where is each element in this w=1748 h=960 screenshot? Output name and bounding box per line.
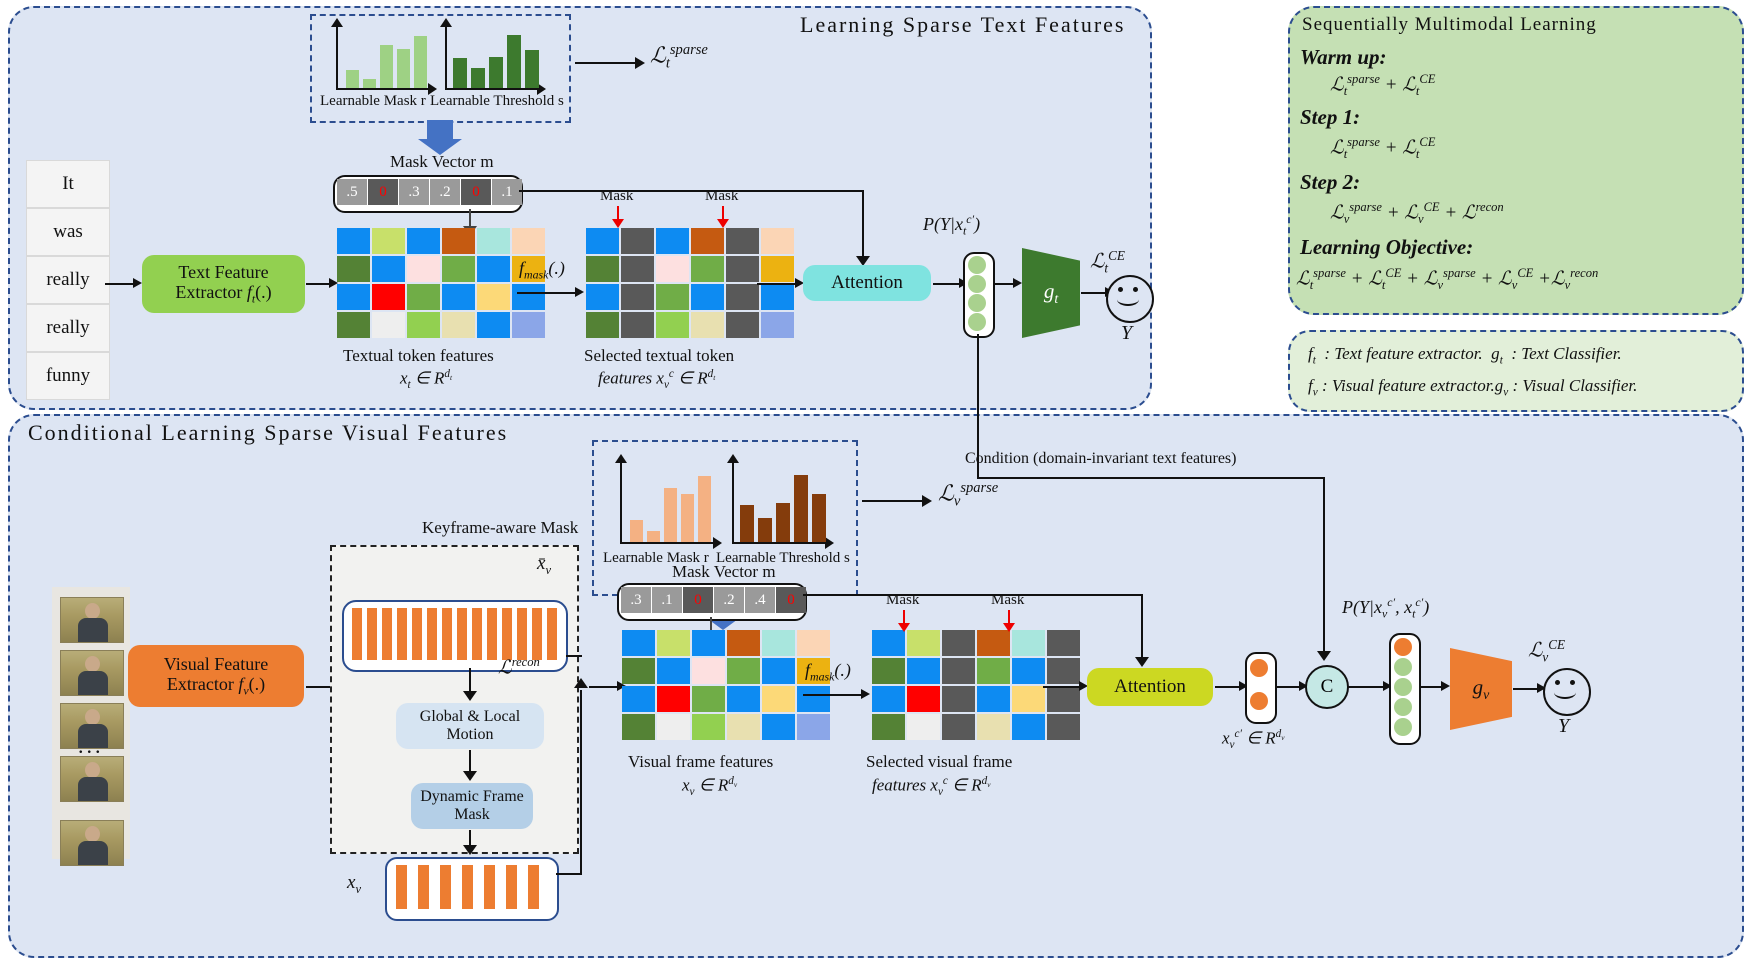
feature-cell <box>512 228 545 254</box>
text-token: really <box>26 304 110 352</box>
feature-cell <box>1012 686 1045 712</box>
framemask-to-xv-arrowhead <box>463 845 477 855</box>
keyframe-bar <box>532 608 542 660</box>
visual-maskvec-to-attention-v <box>1141 594 1143 658</box>
feature-cell <box>586 312 619 338</box>
feature-cell <box>726 312 759 338</box>
classifier-to-output-arrow <box>1081 292 1107 294</box>
xv-label: xv <box>347 872 361 897</box>
feature-cell <box>657 686 690 712</box>
text-ce-loss-label: ℒtCE <box>1090 248 1125 277</box>
feature-cell <box>622 658 655 684</box>
feature-cell <box>907 714 940 740</box>
feature-cell <box>442 312 475 338</box>
legend-panel <box>1288 330 1744 412</box>
keyframe-bar <box>352 608 362 660</box>
feature-cell <box>656 256 689 282</box>
feature-cell <box>907 630 940 656</box>
visual-fmask-arrowhead <box>861 689 870 699</box>
feature-cell <box>727 714 760 740</box>
feature-cell <box>1012 630 1045 656</box>
visual-feature-extractor-label: Visual FeatureExtractor fv(.) <box>164 654 268 699</box>
maskvec-to-attention-v <box>862 190 864 257</box>
recon-loss-vline <box>580 690 582 875</box>
feature-cell <box>942 686 975 712</box>
feature-cell <box>372 228 405 254</box>
visualprob-to-classifier-arrowhead <box>1441 681 1450 691</box>
text-learnable-threshold-chart <box>435 22 545 94</box>
keyframe-bar <box>442 608 452 660</box>
visual-smiley-eye-left <box>1555 680 1560 685</box>
mask-vector-cell: .3 <box>399 179 429 205</box>
feature-cell <box>372 284 405 310</box>
selected-keyframe-bar <box>506 865 517 909</box>
dynamic-frame-mask-label: Dynamic Frame Mask <box>411 788 533 824</box>
visual-grid-caption2: xv ∈ Rdv <box>682 775 737 798</box>
text-sparse-loss-label: ℒtsparse <box>650 42 708 73</box>
text-neuron <box>968 313 986 331</box>
video-frames-ellipsis: ... <box>78 733 104 759</box>
feature-cell <box>407 284 440 310</box>
global-local-motion-label: Global & Local Motion <box>396 708 544 744</box>
feature-cell <box>872 630 905 656</box>
visual-sparse-loss-arrowhead <box>922 495 932 507</box>
global-local-motion-block[interactable]: Global & Local Motion <box>396 703 544 749</box>
feature-cell <box>872 714 905 740</box>
mask-vector-cell: 0 <box>368 179 398 205</box>
attention-to-prob-arrow <box>933 283 961 285</box>
visual-smiley-mouth <box>1554 686 1576 699</box>
feature-cell <box>407 228 440 254</box>
legend-line-2: fv : Visual feature extractor.gv : Visua… <box>1308 376 1637 398</box>
feature-cell <box>942 630 975 656</box>
feature-cell <box>872 658 905 684</box>
legend-line-1: ft : Text feature extractor. gt : Text C… <box>1308 344 1622 366</box>
prob-to-classifier-arrow <box>993 283 1015 285</box>
xbar-to-motion-arrowhead <box>463 691 477 701</box>
visual-pooled-neuron <box>1250 692 1268 710</box>
text-attention-block[interactable]: Attention <box>803 265 931 301</box>
condition-arrowhead <box>1317 651 1331 661</box>
visual-attention-label: Attention <box>1114 676 1186 698</box>
mask-vector-cell: 0 <box>776 587 806 613</box>
text-mask-down-arrow <box>427 120 453 140</box>
keyframe-bar <box>412 608 422 660</box>
feature-cell <box>691 284 724 310</box>
objective-heading-0: Warm up: <box>1300 45 1387 70</box>
feature-cell <box>442 256 475 282</box>
feature-cell <box>977 714 1010 740</box>
smiley-eye-right <box>1133 287 1138 292</box>
feature-cell <box>372 256 405 282</box>
textual-grid-caption2: xt ∈ Rdt <box>400 368 452 391</box>
video-frame <box>60 597 124 643</box>
visual-prob-neuron <box>1394 638 1412 656</box>
concat-node: C <box>1305 665 1349 709</box>
recon-loss-hline-top <box>566 655 582 657</box>
condition-label: Condition (domain-invariant text feature… <box>965 450 1236 468</box>
selected-keyframe-bar <box>484 865 495 909</box>
video-frame <box>60 650 124 696</box>
feature-cell <box>407 312 440 338</box>
keyframe-bar <box>487 608 497 660</box>
visual-mask-arrow-1 <box>903 610 905 624</box>
text-neuron <box>968 256 986 274</box>
visual-pooled-neuron <box>1250 659 1268 677</box>
feature-cell <box>726 228 759 254</box>
xbar-to-motion-arrow <box>469 668 471 692</box>
feature-cell <box>691 228 724 254</box>
feature-cell <box>761 312 794 338</box>
feature-cell <box>726 284 759 310</box>
text-branch-title: Learning Sparse Text Features <box>800 12 1125 38</box>
text-mask-arrow-1 <box>617 206 619 220</box>
keyframe-bar <box>397 608 407 660</box>
feature-cell <box>337 312 370 338</box>
text-sparse-loss-arrow <box>575 62 637 64</box>
feature-cell <box>621 312 654 338</box>
visual-smiley-eye-right <box>1570 680 1575 685</box>
feature-cell <box>1047 630 1080 656</box>
keyframe-bar <box>472 608 482 660</box>
feature-cell <box>872 686 905 712</box>
visual-classifier-label: gv <box>1473 675 1490 703</box>
framemask-to-xv-arrow <box>469 830 471 846</box>
selected-keyframe-bar <box>440 865 451 909</box>
objective-formula-2: ℒvsparse + ℒvCE + ℒrecon <box>1330 200 1504 227</box>
feature-cell <box>1047 714 1080 740</box>
feature-cell <box>656 228 689 254</box>
feature-cell <box>407 256 440 282</box>
feature-cell <box>692 658 725 684</box>
visual-branch-title: Conditional Learning Sparse Visual Featu… <box>28 420 508 446</box>
text-mask-arrow-2 <box>722 206 724 220</box>
visual-attention-block[interactable]: Attention <box>1087 668 1213 706</box>
feature-cell <box>337 228 370 254</box>
visual-sparse-loss-arrow <box>862 500 924 502</box>
selected-keyframe-bar <box>418 865 429 909</box>
visual-prob-neuron <box>1394 678 1412 696</box>
selvisgrid-to-attention-arrow <box>1043 686 1081 688</box>
feature-cell <box>657 714 690 740</box>
text-fmask-label: fmask(.) <box>519 258 565 283</box>
maskvec-to-attention-h <box>519 190 864 192</box>
visual-fmask-arrow <box>803 694 863 696</box>
keyframe-bar <box>517 608 527 660</box>
feature-cell <box>727 658 760 684</box>
token-to-extractor-arrow <box>105 283 135 285</box>
visual-prob-neuron <box>1394 698 1412 716</box>
objective-panel-title: Sequentially Multimodal Learning <box>1302 14 1597 36</box>
video-frame <box>60 756 124 802</box>
concat-label: C <box>1321 676 1334 698</box>
visual-prob-neuron <box>1394 718 1412 736</box>
condition-vline-from-top <box>977 334 979 478</box>
text-attention-label: Attention <box>831 272 903 294</box>
selected-keyframe-bar <box>396 865 407 909</box>
keyframe-bar <box>457 608 467 660</box>
dynamic-frame-mask-block[interactable]: Dynamic Frame Mask <box>411 783 533 829</box>
visual-maskvec-to-attention-h <box>803 594 1143 596</box>
selected-keyframe-bar <box>462 865 473 909</box>
text-classifier-label: gt <box>1044 279 1058 307</box>
feature-cell <box>586 284 619 310</box>
text-learnable-threshold-label: Learnable Threshold s <box>430 93 564 110</box>
visual-maskvec-to-attention-arrowhead <box>1135 657 1149 667</box>
maskvec-to-grid-line <box>469 209 471 227</box>
feature-cell <box>691 256 724 282</box>
feature-cell <box>656 312 689 338</box>
smiley-eye-left <box>1118 287 1123 292</box>
text-output-label: Y <box>1121 322 1132 345</box>
feature-cell <box>477 284 510 310</box>
feature-cell <box>762 658 795 684</box>
feature-cell <box>337 284 370 310</box>
feature-cell <box>727 686 760 712</box>
feature-cell <box>622 630 655 656</box>
feature-cell <box>586 256 619 282</box>
mask-vector-cell: .2 <box>430 179 460 205</box>
feature-cell <box>797 630 830 656</box>
feature-cell <box>621 228 654 254</box>
visual-learnable-mask-chart <box>610 458 722 550</box>
mask-vector-cell: 0 <box>461 179 491 205</box>
visual-fmask-label: fmask(.) <box>805 660 851 685</box>
xbar-label: x̄v <box>537 553 551 578</box>
feature-cell <box>1012 714 1045 740</box>
feature-cell <box>586 228 619 254</box>
feature-cell <box>762 714 795 740</box>
text-token: really <box>26 256 110 304</box>
keyframe-mask-title: Keyframe-aware Mask <box>422 518 578 538</box>
objective-heading-2: Step 2: <box>1300 170 1360 195</box>
objective-heading-1: Step 1: <box>1300 105 1360 130</box>
feature-cell <box>442 228 475 254</box>
text-token: funny <box>26 352 110 400</box>
xv-to-visualgrid-arrow <box>589 686 619 688</box>
keyframe-bar <box>427 608 437 660</box>
feature-cell <box>797 714 830 740</box>
feature-cell <box>1012 658 1045 684</box>
feature-cell <box>692 630 725 656</box>
feature-cell <box>1047 686 1080 712</box>
visual-learnable-threshold-chart <box>722 458 834 550</box>
smiley-mouth <box>1117 293 1139 306</box>
feature-cell <box>657 630 690 656</box>
text-neuron <box>968 275 986 293</box>
feature-cell <box>977 630 1010 656</box>
mask-vector-cell: .3 <box>621 587 651 613</box>
objective-formula-3: ℒtsparse + ℒtCE + ℒvsparse + ℒvCE +ℒvrec… <box>1296 266 1598 293</box>
text-mask-vector-label: Mask Vector m <box>390 152 494 172</box>
visual-mask-vector-label: Mask Vector m <box>672 562 776 582</box>
feature-cell <box>692 714 725 740</box>
visual-output-label: Y <box>1558 715 1569 738</box>
extractor-to-grid-arrow <box>306 283 331 285</box>
feature-cell <box>477 256 510 282</box>
visual-prob-label: P(Y|xvc′, xtc′) <box>1342 595 1429 622</box>
feature-cell <box>372 312 405 338</box>
condition-hline <box>977 477 1325 479</box>
feature-cell <box>907 686 940 712</box>
feature-cell <box>727 630 760 656</box>
concat-to-prob-arrow <box>1347 686 1385 688</box>
selected-textual-caption2: features xvc ∈ Rdt <box>598 368 715 391</box>
visual-classifier[interactable]: gv <box>1450 648 1512 730</box>
mask-vector-cell: .1 <box>492 179 522 205</box>
selected-keyframe-bar <box>528 865 539 909</box>
feature-cell <box>942 714 975 740</box>
feature-cell <box>942 658 975 684</box>
feature-cell <box>622 686 655 712</box>
selected-visual-caption: Selected visual frame <box>866 752 1012 772</box>
visual-sparse-loss-label: ℒvsparse <box>938 480 998 511</box>
mask-vector-cell: 0 <box>683 587 713 613</box>
feature-cell <box>477 312 510 338</box>
mask-vector-cell: .1 <box>652 587 682 613</box>
visual-feature-extractor[interactable]: Visual FeatureExtractor fv(.) <box>128 645 304 707</box>
text-token: was <box>26 208 110 256</box>
feature-cell <box>337 256 370 282</box>
pooled-to-concat-arrow <box>1275 686 1301 688</box>
visualprob-to-classifier-arrow <box>1419 686 1443 688</box>
mask-vector-cell: .5 <box>337 179 367 205</box>
text-branch-panel <box>8 6 1152 410</box>
text-neuron <box>968 294 986 312</box>
feature-cell <box>691 312 724 338</box>
feature-cell <box>442 284 475 310</box>
text-feature-extractor-label: Text FeatureExtractor ft(.) <box>175 262 271 307</box>
text-fmask-arrow <box>517 292 577 294</box>
condition-vline-down <box>1323 477 1325 652</box>
mask-vector-cell: .2 <box>714 587 744 613</box>
feature-cell <box>512 284 545 310</box>
feature-cell <box>762 686 795 712</box>
feature-cell <box>621 284 654 310</box>
feature-cell <box>621 256 654 282</box>
video-frame <box>60 820 124 866</box>
selgrid-to-attention-arrow <box>757 283 797 285</box>
keyframe-bar <box>367 608 377 660</box>
feature-cell <box>797 686 830 712</box>
feature-cell <box>761 228 794 254</box>
token-to-extractor-arrowhead <box>133 278 142 288</box>
feature-cell <box>761 284 794 310</box>
keyframe-bar <box>382 608 392 660</box>
textual-grid-caption: Textual token features <box>343 346 494 366</box>
keyframe-bar <box>547 608 557 660</box>
visual-mask-arrowhead-2 <box>1003 623 1015 632</box>
visual-mask-arrow-2 <box>1008 610 1010 624</box>
prob-to-classifier-arrowhead <box>1013 278 1022 288</box>
feature-cell <box>692 686 725 712</box>
recon-loss-arrowhead <box>574 678 588 688</box>
feature-cell <box>907 658 940 684</box>
feature-cell <box>977 658 1010 684</box>
feature-cell <box>726 256 759 282</box>
text-sparse-loss-arrowhead <box>635 57 645 69</box>
text-mask-arrowhead-1 <box>612 219 624 228</box>
feature-cell <box>477 228 510 254</box>
selected-textual-caption: Selected textual token <box>584 346 734 366</box>
visualclassifier-to-output-arrow <box>1513 688 1539 690</box>
visual-pooled-label: xvc′ ∈ Rdv <box>1222 728 1285 751</box>
feature-cell <box>656 284 689 310</box>
feature-cell <box>1047 658 1080 684</box>
text-token: It <box>26 160 110 208</box>
feature-cell <box>761 256 794 282</box>
objective-formula-1: ℒtsparse + ℒtCE <box>1330 135 1435 162</box>
visual-prob-neuron <box>1394 658 1412 676</box>
text-learnable-mask-label: Learnable Mask r <box>320 93 426 110</box>
objective-heading-3: Learning Objective: <box>1300 235 1473 260</box>
feature-cell <box>512 312 545 338</box>
feature-cell <box>657 658 690 684</box>
recon-loss-hline-bottom <box>556 873 582 875</box>
text-feature-extractor[interactable]: Text FeatureExtractor ft(.) <box>142 255 305 313</box>
objective-formula-0: ℒtsparse + ℒtCE <box>1330 72 1435 99</box>
text-prob-label: P(Y|xtc′) <box>923 212 980 239</box>
feature-cell <box>977 686 1010 712</box>
motion-to-framemask-arrow <box>469 750 471 772</box>
feature-cell <box>622 714 655 740</box>
keyframe-bar <box>502 608 512 660</box>
feature-cell <box>762 630 795 656</box>
text-fmask-arrowhead <box>575 287 584 297</box>
selected-visual-caption2: features xvc ∈ Rdv <box>872 775 991 798</box>
mask-vector-cell: .4 <box>745 587 775 613</box>
visual-attention-to-pooled-arrow <box>1215 686 1241 688</box>
visual-grid-caption: Visual frame features <box>628 752 773 772</box>
text-classifier[interactable]: gt <box>1022 248 1080 338</box>
text-mask-arrowhead-2 <box>717 219 729 228</box>
recon-loss-label: ℒrecon <box>498 655 540 679</box>
visual-mask-arrowhead-1 <box>898 623 910 632</box>
motion-to-framemask-arrowhead <box>463 771 477 781</box>
visual-ce-loss-label: ℒvCE <box>1528 637 1565 666</box>
text-learnable-mask-chart <box>326 22 436 94</box>
